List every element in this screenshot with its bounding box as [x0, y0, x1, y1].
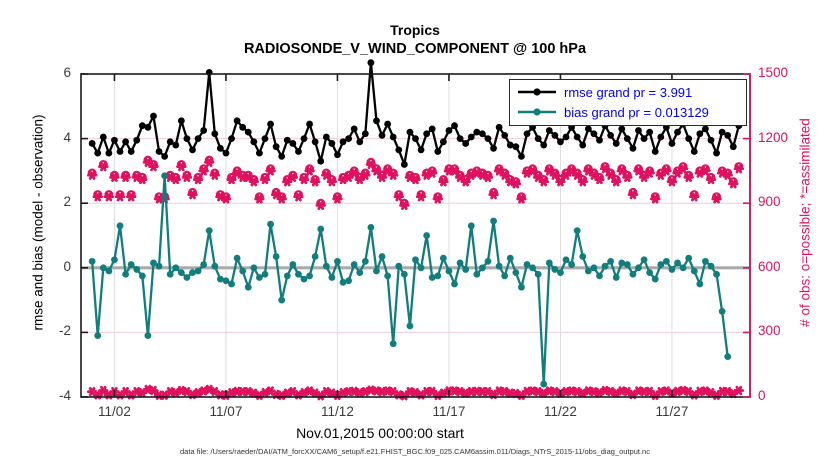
y-tick-right: 300 — [758, 323, 804, 338]
x-tick: 11/27 — [637, 404, 707, 419]
legend-entry-rmse: rmse grand pr = 3.991 — [516, 84, 558, 100]
y-tick-left: 4 — [41, 130, 71, 145]
x-tick: 11/02 — [79, 404, 149, 419]
chart-title-sub: RADIOSONDE_V_WIND_COMPONENT @ 100 hPa — [0, 41, 830, 57]
y-tick-left: 2 — [41, 194, 71, 209]
x-tick: 11/12 — [302, 404, 372, 419]
legend-label-rmse: rmse grand pr = 3.991 — [564, 85, 692, 100]
x-tick: 11/07 — [191, 404, 261, 419]
x-tick: 11/17 — [414, 404, 484, 419]
data-file-footer: data file: /Users/raeder/DAI/ATM_forcXX/… — [0, 447, 830, 456]
legend-label-bias: bias grand pr = 0.013129 — [564, 105, 709, 120]
legend-marker-rmse-icon — [516, 84, 558, 100]
y-tick-right: 900 — [758, 194, 804, 209]
y-tick-right: 0 — [758, 388, 804, 403]
y-tick-right: 1500 — [758, 65, 804, 80]
legend-marker-bias-icon — [516, 104, 558, 120]
y-tick-left: -2 — [41, 323, 71, 338]
y-tick-left: 6 — [41, 65, 71, 80]
y-tick-left: -4 — [41, 388, 71, 403]
figure: Tropics RADIOSONDE_V_WIND_COMPONENT @ 10… — [0, 0, 830, 470]
y-tick-right: 1200 — [758, 130, 804, 145]
y-tick-left: 0 — [41, 259, 71, 274]
x-tick: 11/22 — [525, 404, 595, 419]
y-tick-right: 600 — [758, 259, 804, 274]
chart-title-main: Tropics — [0, 22, 830, 38]
plot-canvas — [0, 0, 830, 470]
bias-series — [89, 172, 731, 387]
legend-entry-bias: bias grand pr = 0.013129 — [516, 104, 558, 120]
legend[interactable]: rmse grand pr = 3.991 bias grand pr = 0.… — [509, 79, 747, 126]
x-axis-label: Nov.01,2015 00:00:00 start — [0, 425, 760, 441]
